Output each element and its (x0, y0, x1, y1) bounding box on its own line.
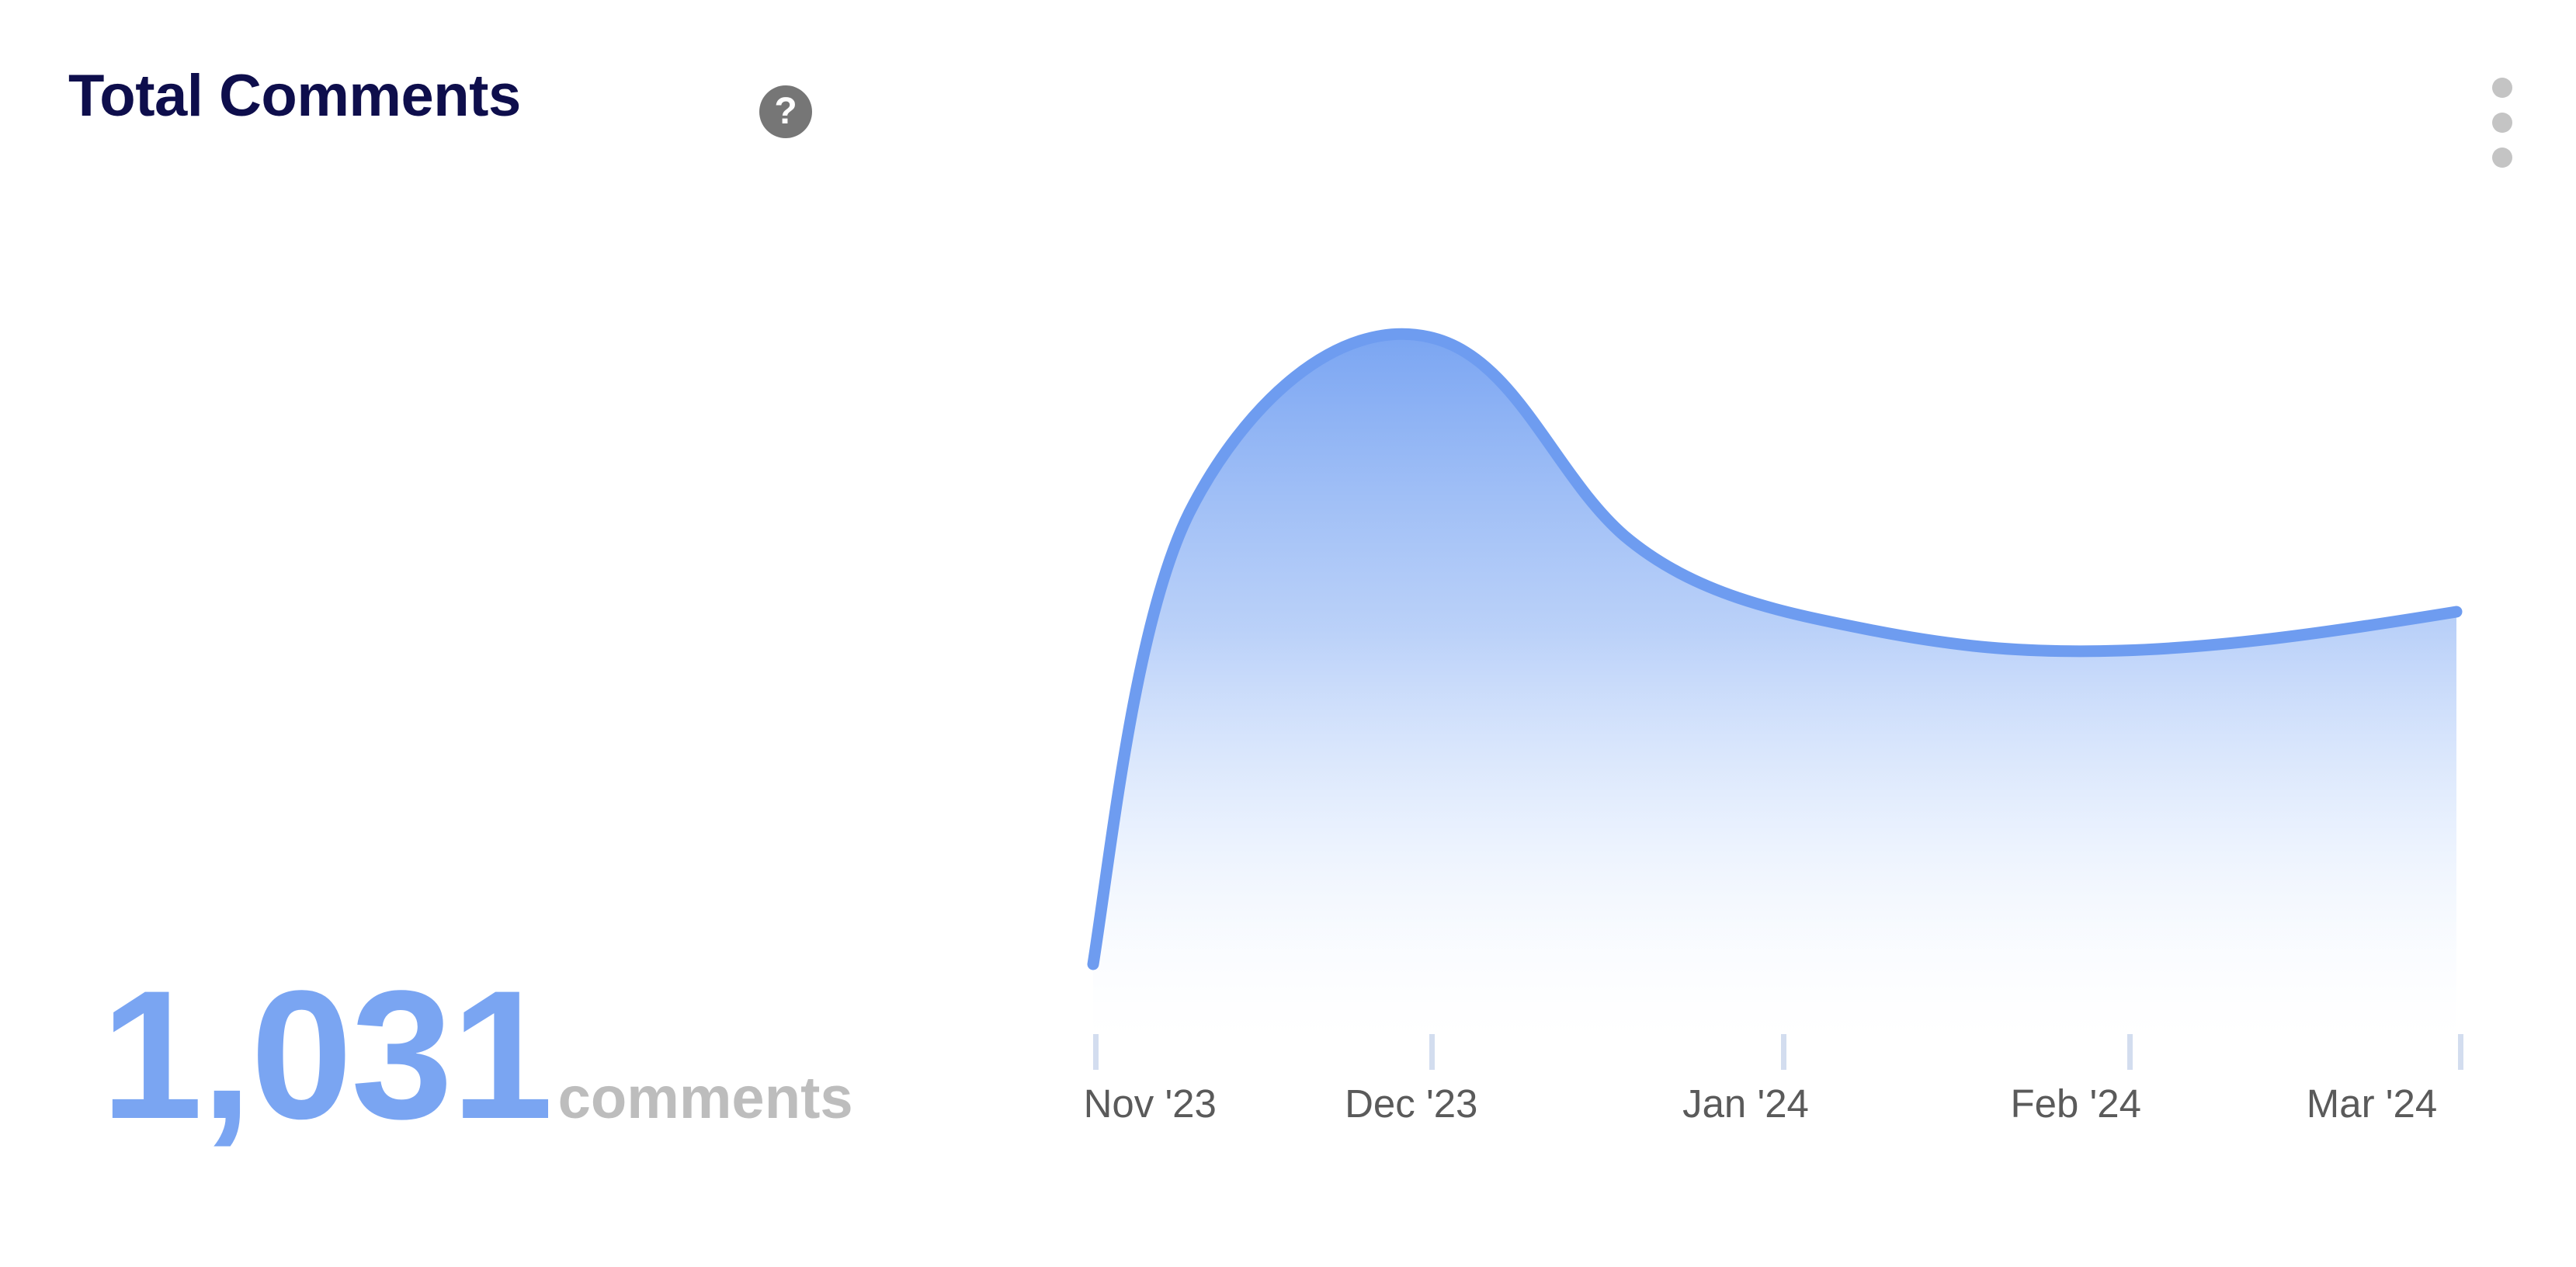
metric-value: 1,031 (101, 981, 552, 1131)
axis-tick-feb-24 (2127, 1034, 2133, 1070)
axis-label-jan-24: Jan '24 (1682, 1081, 1809, 1127)
axis-label-group: Nov '23 Dec '23 Jan '24 Feb '24 Mar '24 (1081, 1081, 2470, 1135)
axis-label-nov-23: Nov '23 (1084, 1081, 1217, 1127)
card-header: Total Comments ? (0, 0, 2576, 163)
page-title: Total Comments (68, 67, 521, 126)
axis-tick-dec-23 (1429, 1034, 1435, 1070)
kebab-dot-1 (2492, 78, 2512, 98)
axis-tick-jan-24 (1781, 1034, 1786, 1070)
axis-label-feb-24: Feb '24 (2011, 1081, 2142, 1127)
help-circle-icon[interactable]: ? (759, 85, 812, 138)
axis-tick-group (1081, 1034, 2470, 1070)
axis-tick-nov-23 (1093, 1034, 1099, 1070)
axis-tick-mar-24 (2458, 1034, 2463, 1070)
axis-label-mar-24: Mar '24 (2307, 1081, 2437, 1127)
area-chart (1081, 256, 2470, 1040)
kebab-dot-3 (2492, 148, 2512, 168)
metric-unit-label: comments (558, 1069, 853, 1128)
kebab-menu-icon[interactable] (2484, 78, 2520, 168)
metric-block: 1,031 comments (101, 981, 853, 1131)
area-fill (1093, 334, 2456, 1040)
axis-label-dec-23: Dec '23 (1345, 1081, 1477, 1127)
area-chart-svg (1081, 256, 2470, 1040)
kebab-dot-2 (2492, 113, 2512, 133)
total-comments-card: Total Comments ? 1,031 comments (0, 0, 2576, 1267)
